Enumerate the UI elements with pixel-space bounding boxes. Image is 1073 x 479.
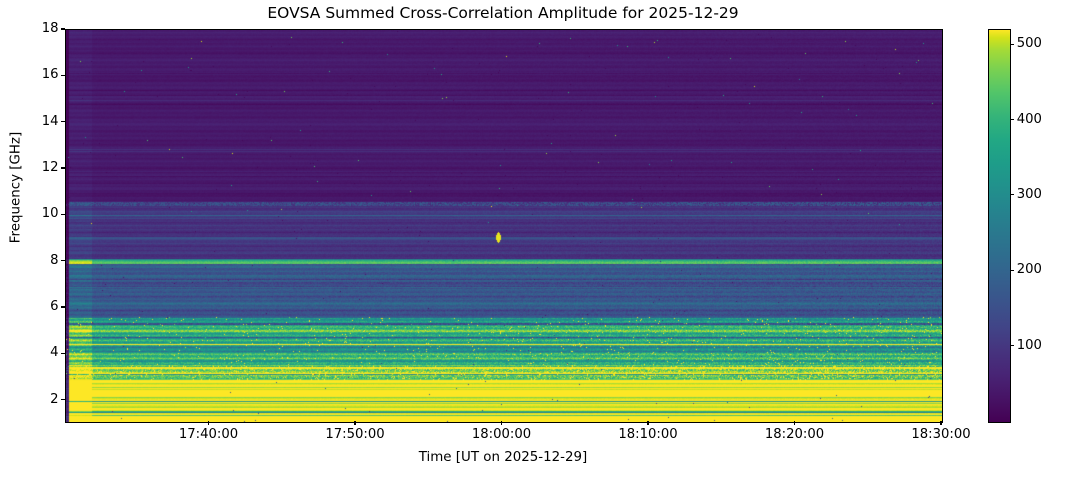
y-tick-label: 14: [42, 113, 59, 131]
y-tick-label: 18: [42, 20, 59, 38]
x-tick-label: 18:00:00: [472, 427, 531, 442]
plot-area: [65, 29, 943, 423]
x-tick-mark: [940, 421, 941, 425]
y-tick-label: 12: [42, 159, 59, 177]
y-tick-label: 6: [50, 298, 58, 316]
y-axis: Frequency [GHz] 24681012141618: [0, 29, 65, 421]
y-tick-label: 10: [42, 205, 59, 223]
y-tick-label: 8: [50, 252, 58, 270]
x-tick-mark: [794, 421, 795, 425]
colorbar-ticks: 100200300400500: [988, 29, 1073, 421]
colorbar-tick-mark: [1010, 345, 1014, 346]
x-tick-mark: [354, 421, 355, 425]
colorbar-tick-mark: [1010, 194, 1014, 195]
y-tick-label: 16: [42, 66, 59, 84]
x-tick-label: 17:40:00: [179, 427, 238, 442]
y-tick-label: 4: [50, 344, 58, 362]
colorbar-tick-label: 100: [1017, 337, 1042, 355]
colorbar-tick-mark: [1010, 119, 1014, 120]
colorbar-tick-label: 200: [1017, 261, 1042, 279]
x-tick-label: 17:50:00: [325, 427, 384, 442]
colorbar-tick-mark: [1010, 270, 1014, 271]
y-axis-label: Frequency [GHz]: [9, 98, 24, 278]
spectrogram-image: [66, 30, 942, 422]
x-tick-mark: [647, 421, 648, 425]
x-tick-label: 18:20:00: [765, 427, 824, 442]
x-tick-mark: [208, 421, 209, 425]
y-tick-label: 2: [50, 391, 58, 409]
x-axis: Time [UT on 2025-12-29] 17:40:0017:50:00…: [65, 421, 941, 479]
colorbar-tick-mark: [1010, 44, 1014, 45]
colorbar-tick-label: 300: [1017, 186, 1042, 204]
colorbar-tick-label: 500: [1017, 35, 1042, 53]
colorbar-tick-label: 400: [1017, 111, 1042, 129]
page-title: EOVSA Summed Cross-Correlation Amplitude…: [65, 4, 941, 22]
x-tick-mark: [501, 421, 502, 425]
x-tick-label: 18:10:00: [618, 427, 677, 442]
spectrogram-figure: EOVSA Summed Cross-Correlation Amplitude…: [0, 0, 1073, 479]
x-tick-label: 18:30:00: [911, 427, 970, 442]
x-axis-label: Time [UT on 2025-12-29]: [65, 450, 941, 465]
